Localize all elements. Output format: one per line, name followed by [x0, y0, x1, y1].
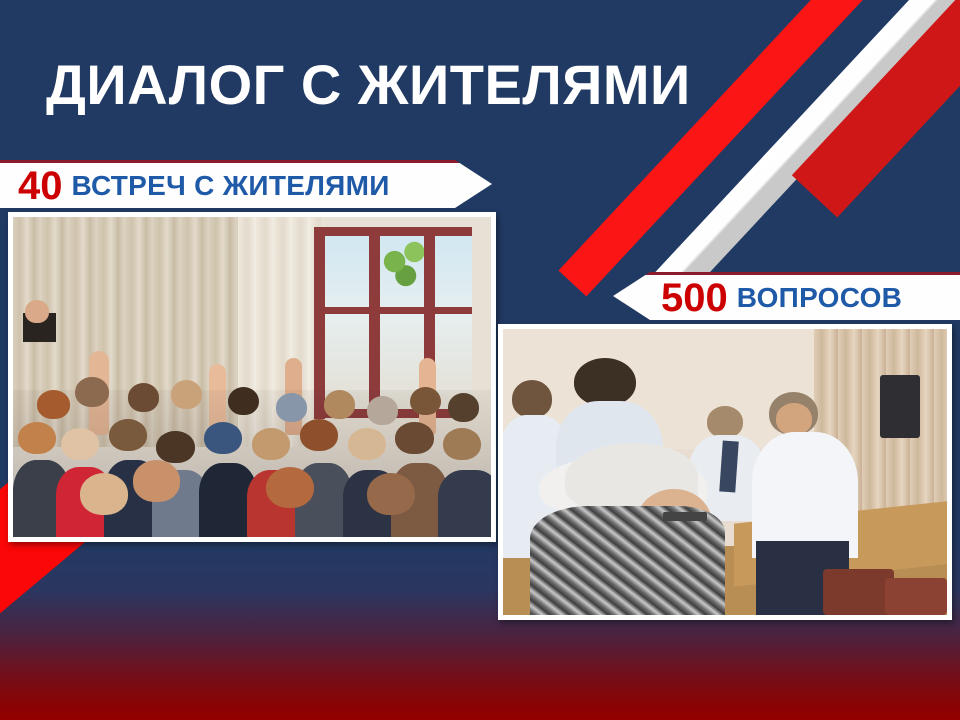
stat-banner-questions: 500 ВОПРОСОВ — [613, 272, 960, 320]
stat-label-meetings: ВСТРЕЧ С ЖИТЕЛЯМИ — [72, 172, 390, 200]
stat-number-meetings: 40 — [18, 166, 63, 206]
photo-conversation — [498, 324, 952, 620]
stat-banner-meetings: 40 ВСТРЕЧ С ЖИТЕЛЯМИ — [0, 160, 492, 208]
photo-conversation-content — [503, 329, 947, 615]
photo-meeting-hall — [8, 212, 496, 542]
slide-canvas: ДИАЛОГ С ЖИТЕЛЯМИ 40 ВСТРЕЧ С ЖИТЕЛЯМИ — [0, 0, 960, 720]
stat-number-questions: 500 — [661, 278, 728, 318]
page-title: ДИАЛОГ С ЖИТЕЛЯМИ — [46, 57, 691, 113]
photo-meeting-hall-content — [13, 217, 491, 537]
stat-label-questions: ВОПРОСОВ — [737, 284, 902, 312]
